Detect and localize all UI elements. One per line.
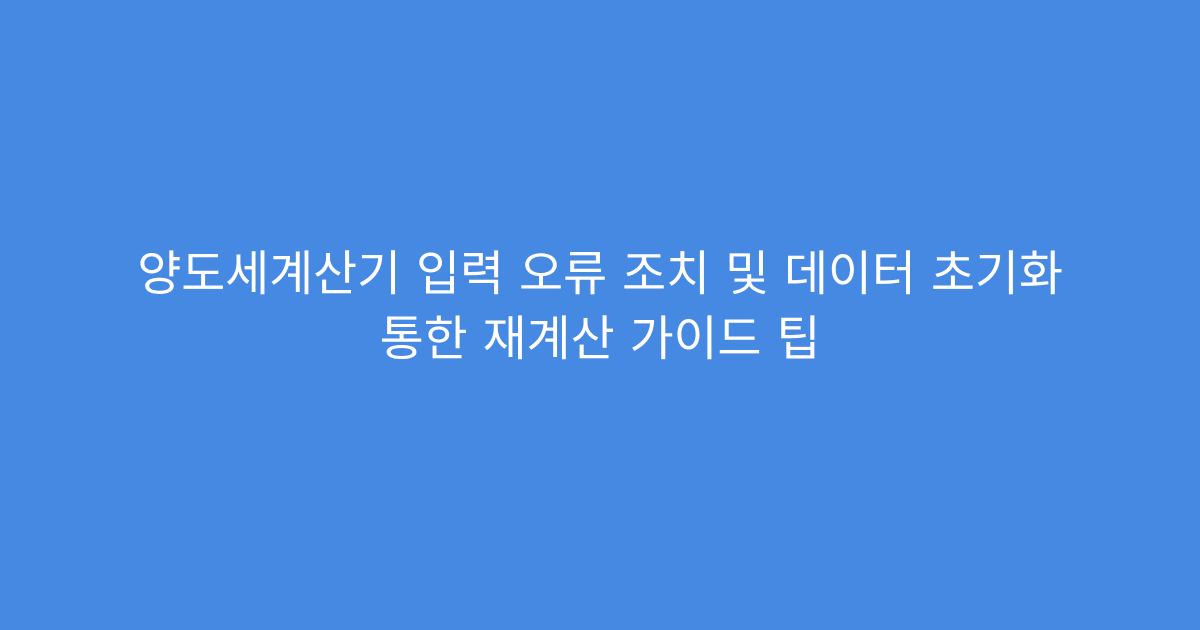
- page-title: 양도세계산기 입력 오류 조치 및 데이터 초기화 통한 재계산 가이드 팁: [120, 242, 1080, 373]
- title-block: 양도세계산기 입력 오류 조치 및 데이터 초기화 통한 재계산 가이드 팁: [80, 242, 1120, 373]
- og-card: 양도세계산기 입력 오류 조치 및 데이터 초기화 통한 재계산 가이드 팁: [0, 0, 1200, 630]
